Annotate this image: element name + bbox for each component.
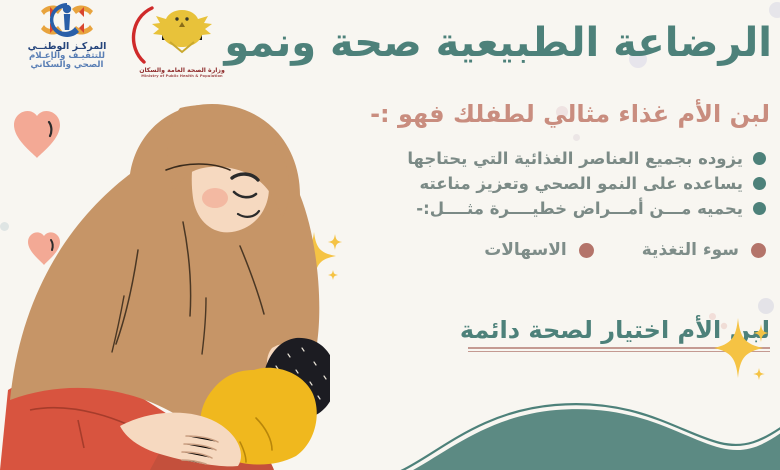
national-center-logo-text: المركـز الوطنــي للتثقيـف والإعـلام الصح… (8, 42, 126, 70)
benefits-list: يزوده بجميع العناصر الغذائية التي يحتاجه… (316, 146, 766, 221)
diseases-list: سوء التغذية الاسهالات (356, 240, 766, 260)
closing-statement-wrap: لبن الأم اختيار لصحة دائمة (350, 316, 770, 352)
list-item: الاسهالات (484, 240, 594, 260)
bullet-dot-icon (751, 243, 766, 258)
closing-statement: لبن الأم اختيار لصحة دائمة (460, 316, 770, 344)
national-center-logo: المركـز الوطنــي للتثقيـف والإعـلام الصح… (8, 2, 126, 70)
bullet-dot-icon (753, 202, 766, 215)
page-title: الرضاعة الطبيعية صحة ونمو (252, 22, 772, 64)
logo-line-3: الصحي والسكاني (8, 61, 126, 70)
list-item: يساعده على النمو الصحي وتعزيز مناعته (316, 171, 766, 196)
bullet-dot-icon (753, 152, 766, 165)
closing-underline (468, 347, 770, 352)
bullet-dot-icon (579, 243, 594, 258)
subheading: لبن الأم غذاء مثالي لطفلك فهو :- (270, 100, 770, 128)
national-center-emblem-icon (8, 2, 126, 38)
ministry-of-health-logo: وزارة الصحة العامة والسكان Ministry of P… (126, 2, 238, 79)
decor-circle (573, 134, 580, 141)
benefit-label: يساعده على النمو الصحي وتعزيز مناعته (420, 174, 743, 193)
list-item: سوء التغذية (642, 240, 766, 260)
bullet-dot-icon (753, 177, 766, 190)
mother-breastfeeding-baby-illustration (0, 70, 330, 470)
list-item: يحميه مـــن أمـــراض خطيــــرة مثــــل:- (316, 196, 766, 221)
heart-icon (14, 111, 60, 158)
logo-row: المركـز الوطنــي للتثقيـف والإعـلام الصح… (8, 2, 238, 80)
disease-label: سوء التغذية (642, 240, 739, 260)
decor-circle (769, 2, 780, 18)
poster-canvas: المركـز الوطنــي للتثقيـف والإعـلام الصح… (0, 0, 780, 470)
disease-label: الاسهالات (484, 240, 567, 260)
decor-circle (758, 298, 774, 314)
teal-wave-decoration (380, 385, 780, 470)
list-item: يزوده بجميع العناصر الغذائية التي يحتاجه… (316, 146, 766, 171)
yemen-eagle-emblem-icon (126, 2, 238, 64)
benefit-label: يحميه مـــن أمـــراض خطيــــرة مثــــل:- (416, 199, 743, 218)
benefit-label: يزوده بجميع العناصر الغذائية التي يحتاجه… (407, 149, 743, 168)
